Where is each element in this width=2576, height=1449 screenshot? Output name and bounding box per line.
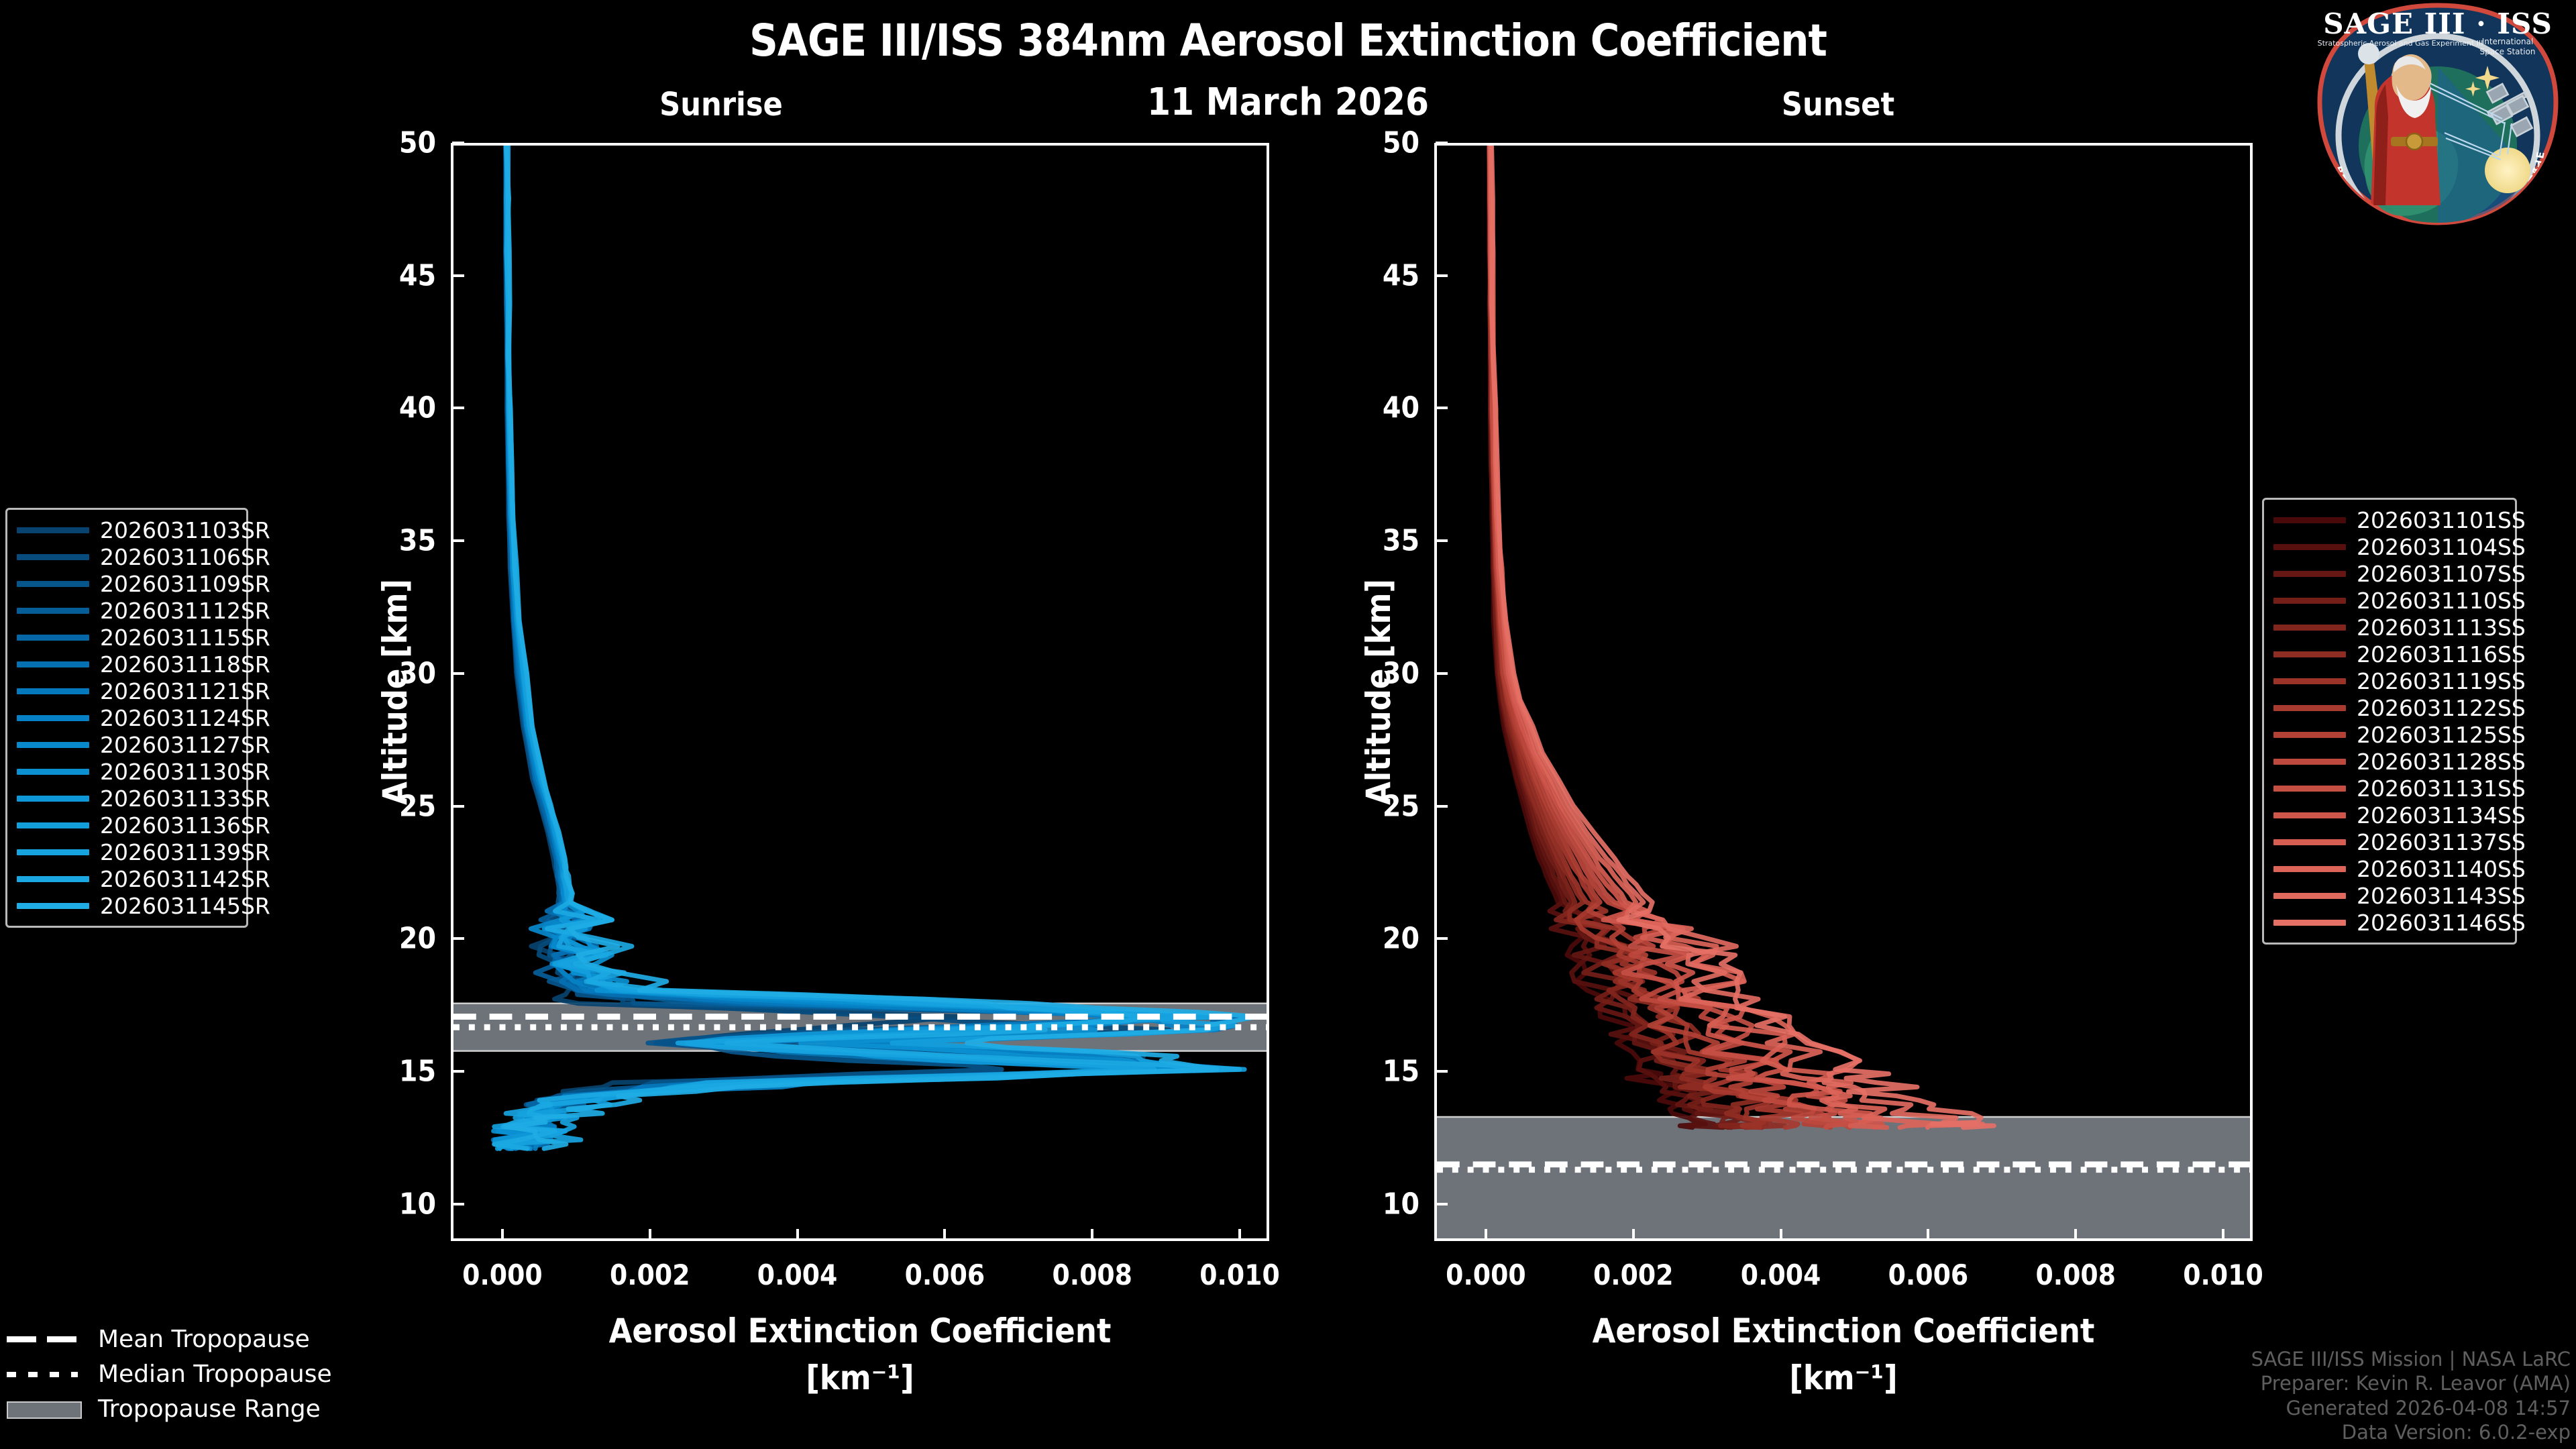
- sunrise-legend-color-swatch: [17, 581, 89, 587]
- tropopause-range-box-icon: [7, 1401, 82, 1416]
- x-axis-tick-mark: [796, 1229, 799, 1241]
- y-axis-tick-label: 10: [349, 1187, 436, 1221]
- y-axis-tick-mark: [1436, 1070, 1448, 1073]
- sunset-legend-item[interactable]: 2026031134SS: [2273, 802, 2506, 828]
- logo-subtitle-right-1: International: [2482, 37, 2534, 46]
- y-axis-tick-mark: [452, 937, 464, 940]
- y-axis-tick-label: 35: [349, 524, 436, 558]
- y-axis-tick-mark: [452, 1070, 464, 1073]
- y-axis-tick-label: 10: [1332, 1187, 1419, 1221]
- x-axis-tick-label: 0.008: [2002, 1258, 2149, 1291]
- sunset-legend-item[interactable]: 2026031143SS: [2273, 882, 2506, 909]
- sunset-legend-item[interactable]: 2026031119SS: [2273, 667, 2506, 694]
- sunrise-legend-color-swatch: [17, 715, 89, 721]
- y-axis-tick-label: 45: [1332, 258, 1419, 292]
- legend-label-median: Median Tropopause: [98, 1360, 332, 1388]
- sunset-legend-label: 2026031131SS: [2357, 775, 2526, 802]
- belt-buckle: [2406, 133, 2422, 150]
- sunset-legend-color-swatch: [2273, 920, 2346, 926]
- sunrise-xaxis-units: [km⁻¹]: [451, 1358, 1269, 1397]
- sunset-legend-label: 2026031107SS: [2357, 561, 2526, 587]
- profile-line: [1489, 146, 1706, 1128]
- x-axis-tick-label: 0.000: [429, 1258, 576, 1291]
- x-axis-tick-mark: [1238, 1229, 1241, 1241]
- y-axis-tick-label: 20: [1332, 922, 1419, 956]
- y-axis-tick-mark: [452, 805, 464, 808]
- sunset-legend-item[interactable]: 2026031113SS: [2273, 614, 2506, 641]
- y-axis-tick-mark: [452, 407, 464, 409]
- sunrise-legend-item[interactable]: 2026031115SR: [17, 624, 237, 651]
- sunset-legend-item[interactable]: 2026031107SS: [2273, 560, 2506, 587]
- sunrise-legend-label: 2026031115SR: [100, 625, 270, 651]
- sunset-legend-item[interactable]: 2026031128SS: [2273, 748, 2506, 775]
- sunrise-legend-item[interactable]: 2026031145SR: [17, 892, 237, 919]
- sunset-plot-panel: [1434, 143, 2253, 1241]
- sunrise-legend-label: 2026031136SR: [100, 812, 270, 839]
- sunrise-legend: 2026031103SR2026031106SR2026031109SR2026…: [5, 508, 248, 928]
- sunset-legend-label: 2026031128SS: [2357, 749, 2526, 775]
- legend-label-mean: Mean Tropopause: [98, 1326, 310, 1353]
- sunset-legend-item[interactable]: 2026031125SS: [2273, 721, 2506, 748]
- sunrise-legend-label: 2026031106SR: [100, 544, 270, 570]
- credits-mission: SAGE III/ISS Mission | NASA LaRC: [2251, 1347, 2571, 1372]
- sunrise-legend-label: 2026031133SR: [100, 786, 270, 812]
- x-axis-tick-label: 0.006: [1854, 1258, 2002, 1291]
- sunset-legend-label: 2026031116SS: [2357, 641, 2526, 667]
- sunset-legend-label: 2026031137SS: [2357, 829, 2526, 855]
- sunrise-legend-label: 2026031130SR: [100, 759, 270, 785]
- sunset-legend-label: 2026031113SS: [2357, 614, 2526, 641]
- x-axis-tick-label: 0.006: [871, 1258, 1018, 1291]
- logo-title: SAGE III · ISS: [2323, 7, 2553, 40]
- sunrise-legend-color-swatch: [17, 876, 89, 882]
- sunset-legend-label: 2026031143SS: [2357, 883, 2526, 909]
- sunrise-legend-label: 2026031112SR: [100, 598, 270, 624]
- x-axis-tick-mark: [1485, 1229, 1487, 1241]
- y-axis-tick-label: 15: [349, 1054, 436, 1088]
- sunset-legend-item[interactable]: 2026031140SS: [2273, 855, 2506, 882]
- sunrise-legend-label: 2026031145SR: [100, 893, 270, 919]
- sunrise-legend-item[interactable]: 2026031127SR: [17, 731, 237, 758]
- x-axis-tick-label: 0.004: [724, 1258, 871, 1291]
- sunset-legend-item[interactable]: 2026031101SS: [2273, 506, 2506, 533]
- x-axis-tick-label: 0.008: [1018, 1258, 1166, 1291]
- sunset-legend-color-swatch: [2273, 517, 2346, 523]
- sunset-legend-color-swatch: [2273, 866, 2346, 872]
- sunrise-legend-label: 2026031142SR: [100, 866, 270, 892]
- y-axis-tick-label: 50: [1332, 126, 1419, 160]
- sunset-legend-color-swatch: [2273, 759, 2346, 765]
- credits-generated: Generated 2026-04-08 14:57: [2251, 1396, 2571, 1421]
- x-axis-tick-mark: [649, 1229, 651, 1241]
- sunrise-plot-panel: [451, 143, 1269, 1241]
- x-axis-tick-label: 0.002: [1560, 1258, 1707, 1291]
- sunset-legend-color-swatch: [2273, 732, 2346, 738]
- sunset-xaxis-title: Aerosol Extinction Coefficient: [1434, 1311, 2253, 1350]
- profile-line: [1490, 146, 1886, 1128]
- sunset-legend-label: 2026031134SS: [2357, 802, 2526, 828]
- sunrise-legend-item[interactable]: 2026031103SR: [17, 517, 237, 543]
- sunset-legend-item[interactable]: 2026031137SS: [2273, 828, 2506, 855]
- sunrise-legend-item[interactable]: 2026031142SR: [17, 865, 237, 892]
- sunset-legend-color-swatch: [2273, 598, 2346, 604]
- sunrise-legend-item[interactable]: 2026031136SR: [17, 812, 237, 839]
- sunrise-legend-item[interactable]: 2026031112SR: [17, 597, 237, 624]
- y-axis-tick-label: 40: [349, 391, 436, 425]
- credits-block: SAGE III/ISS Mission | NASA LaRC Prepare…: [2251, 1347, 2571, 1445]
- sunset-legend-label: 2026031101SS: [2357, 507, 2526, 533]
- y-axis-tick-mark: [1436, 937, 1448, 940]
- sunset-legend-item[interactable]: 2026031146SS: [2273, 909, 2506, 936]
- sunrise-legend-label: 2026031139SR: [100, 839, 270, 865]
- sunrise-legend-label: 2026031124SR: [100, 705, 270, 731]
- sunset-legend-label: 2026031122SS: [2357, 695, 2526, 721]
- x-axis-tick-mark: [1780, 1229, 1782, 1241]
- sunset-legend-color-swatch: [2273, 544, 2346, 550]
- legend-label-range: Tropopause Range: [98, 1395, 321, 1423]
- page-title: SAGE III/ISS 384nm Aerosol Extinction Co…: [0, 15, 2576, 66]
- sunset-legend-label: 2026031110SS: [2357, 588, 2526, 614]
- sunset-legend-item[interactable]: 2026031104SS: [2273, 533, 2506, 560]
- sunrise-legend-item[interactable]: 2026031118SR: [17, 651, 237, 678]
- sunrise-legend-color-swatch: [17, 554, 89, 560]
- x-axis-tick-label: 0.010: [2149, 1258, 2297, 1291]
- sunrise-legend-label: 2026031121SR: [100, 678, 270, 704]
- sunset-plot-canvas: [1437, 146, 2250, 1238]
- y-axis-tick-mark: [1436, 142, 1448, 144]
- sunset-legend-color-swatch: [2273, 678, 2346, 684]
- sunset-legend-color-swatch: [2273, 651, 2346, 657]
- x-axis-tick-mark: [2074, 1229, 2077, 1241]
- y-axis-tick-mark: [1436, 805, 1448, 808]
- sunrise-legend-item[interactable]: 2026031121SR: [17, 678, 237, 704]
- profile-line: [1491, 146, 1942, 1128]
- sunset-yaxis-title: Altitude [km]: [1359, 579, 1398, 805]
- sunrise-legend-label: 2026031118SR: [100, 651, 270, 678]
- sunset-legend-label: 2026031104SS: [2357, 534, 2526, 560]
- sunrise-plot-canvas: [453, 146, 1267, 1238]
- x-axis-tick-mark: [501, 1229, 504, 1241]
- sunset-xaxis-units: [km⁻¹]: [1434, 1358, 2253, 1397]
- sunrise-legend-color-swatch: [17, 608, 89, 614]
- y-axis-tick-label: 15: [1332, 1054, 1419, 1088]
- sunset-legend-color-swatch: [2273, 812, 2346, 818]
- figure-root: SAGE III/ISS 384nm Aerosol Extinction Co…: [0, 0, 2576, 1449]
- x-axis-tick-mark: [943, 1229, 946, 1241]
- x-axis-tick-mark: [1632, 1229, 1635, 1241]
- sunset-legend-label: 2026031146SS: [2357, 910, 2526, 936]
- legend-item-mean-tropopause: Mean Tropopause: [7, 1322, 295, 1356]
- sunrise-yaxis-title: Altitude [km]: [376, 579, 415, 805]
- sunrise-legend-item[interactable]: 2026031130SR: [17, 758, 237, 785]
- sunset-legend-color-swatch: [2273, 571, 2346, 577]
- profile-line: [1489, 146, 1801, 1128]
- y-axis-tick-label: 40: [1332, 391, 1419, 425]
- x-axis-tick-label: 0.000: [1412, 1258, 1560, 1291]
- sunset-legend-label: 2026031125SS: [2357, 722, 2526, 748]
- x-axis-tick-label: 0.004: [1707, 1258, 1855, 1291]
- sunset-legend-color-swatch: [2273, 839, 2346, 845]
- y-axis-tick-label: 50: [349, 126, 436, 160]
- sunrise-legend-label: 2026031109SR: [100, 571, 270, 597]
- sunset-legend-color-swatch: [2273, 705, 2346, 711]
- sunset-legend-item[interactable]: 2026031131SS: [2273, 775, 2506, 802]
- y-axis-tick-label: 35: [1332, 524, 1419, 558]
- sunset-legend-color-swatch: [2273, 786, 2346, 792]
- sunrise-legend-item[interactable]: 2026031106SR: [17, 543, 237, 570]
- sunrise-xaxis-title: Aerosol Extinction Coefficient: [451, 1311, 1269, 1350]
- sunrise-legend-color-swatch: [17, 769, 89, 775]
- legend-item-tropopause-range: Tropopause Range: [7, 1391, 295, 1426]
- x-axis-tick-label: 0.002: [576, 1258, 724, 1291]
- sunrise-legend-color-swatch: [17, 661, 89, 667]
- logo-subtitle-right-2: Space Station: [2479, 47, 2535, 56]
- sunrise-legend-color-swatch: [17, 849, 89, 855]
- y-axis-tick-mark: [1436, 672, 1448, 675]
- sunrise-legend-color-swatch: [17, 688, 89, 694]
- y-axis-tick-mark: [1436, 407, 1448, 409]
- x-axis-tick-label: 0.010: [1166, 1258, 1313, 1291]
- sunrise-legend-color-swatch: [17, 796, 89, 802]
- y-axis-tick-mark: [452, 539, 464, 542]
- y-axis-tick-mark: [1436, 274, 1448, 277]
- sunset-legend-color-swatch: [2273, 893, 2346, 899]
- credits-preparer: Preparer: Kevin R. Leavor (AMA): [2251, 1371, 2571, 1396]
- y-axis-tick-label: 20: [349, 922, 436, 956]
- sunrise-legend-item[interactable]: 2026031109SR: [17, 570, 237, 597]
- sunrise-legend-color-swatch: [17, 527, 89, 533]
- profile-line: [1489, 146, 1723, 1128]
- sunset-legend-item[interactable]: 2026031110SS: [2273, 587, 2506, 614]
- sunset-legend-label: 2026031140SS: [2357, 856, 2526, 882]
- logo-subtitle-left: Stratospheric Aerosol and Gas Experiment…: [2318, 39, 2483, 48]
- sunset-legend: 2026031101SS2026031104SS2026031107SS2026…: [2262, 498, 2517, 945]
- y-axis-tick-label: 45: [349, 258, 436, 292]
- sunrise-legend-label: 2026031103SR: [100, 517, 270, 543]
- x-axis-tick-mark: [1091, 1229, 1093, 1241]
- figure-date: 11 March 2026: [0, 80, 2576, 124]
- sunset-legend-color-swatch: [2273, 625, 2346, 631]
- sunrise-legend-color-swatch: [17, 903, 89, 909]
- sunset-legend-label: 2026031119SS: [2357, 668, 2526, 694]
- x-axis-tick-mark: [2222, 1229, 2224, 1241]
- sunset-panel-label: Sunset: [1758, 86, 1919, 123]
- sunset-legend-item[interactable]: 2026031122SS: [2273, 694, 2506, 721]
- sunrise-legend-color-swatch: [17, 742, 89, 748]
- y-axis-tick-mark: [452, 1203, 464, 1205]
- y-axis-tick-mark: [452, 672, 464, 675]
- sunrise-legend-color-swatch: [17, 635, 89, 641]
- mean-tropopause-dash-icon: [7, 1332, 82, 1346]
- y-axis-tick-mark: [452, 142, 464, 144]
- profile-line: [1489, 146, 1850, 1128]
- profile-line: [1489, 146, 1882, 1128]
- sunrise-legend-label: 2026031127SR: [100, 732, 270, 758]
- y-axis-tick-mark: [1436, 1203, 1448, 1205]
- y-axis-tick-mark: [452, 274, 464, 277]
- sage3-iss-mission-patch-logo: BALL · NASA LANGLEY RESEARCH CENTER · TA…: [2306, 1, 2569, 228]
- x-axis-tick-mark: [1927, 1229, 1929, 1241]
- sunrise-legend-item[interactable]: 2026031139SR: [17, 839, 237, 865]
- credits-data-version: Data Version: 6.0.2-exp: [2251, 1420, 2571, 1445]
- tropopause-legend: Mean Tropopause Median Tropopause Tropop…: [7, 1322, 295, 1426]
- median-tropopause-dot-icon: [7, 1366, 82, 1381]
- sunrise-legend-item[interactable]: 2026031133SR: [17, 785, 237, 812]
- sunrise-legend-color-swatch: [17, 822, 89, 828]
- y-axis-tick-mark: [1436, 539, 1448, 542]
- tropopause-range-band: [1437, 1117, 2250, 1238]
- legend-item-median-tropopause: Median Tropopause: [7, 1356, 295, 1391]
- sunset-legend-item[interactable]: 2026031116SS: [2273, 641, 2506, 667]
- sunrise-legend-item[interactable]: 2026031124SR: [17, 704, 237, 731]
- sunrise-panel-label: Sunrise: [641, 86, 802, 123]
